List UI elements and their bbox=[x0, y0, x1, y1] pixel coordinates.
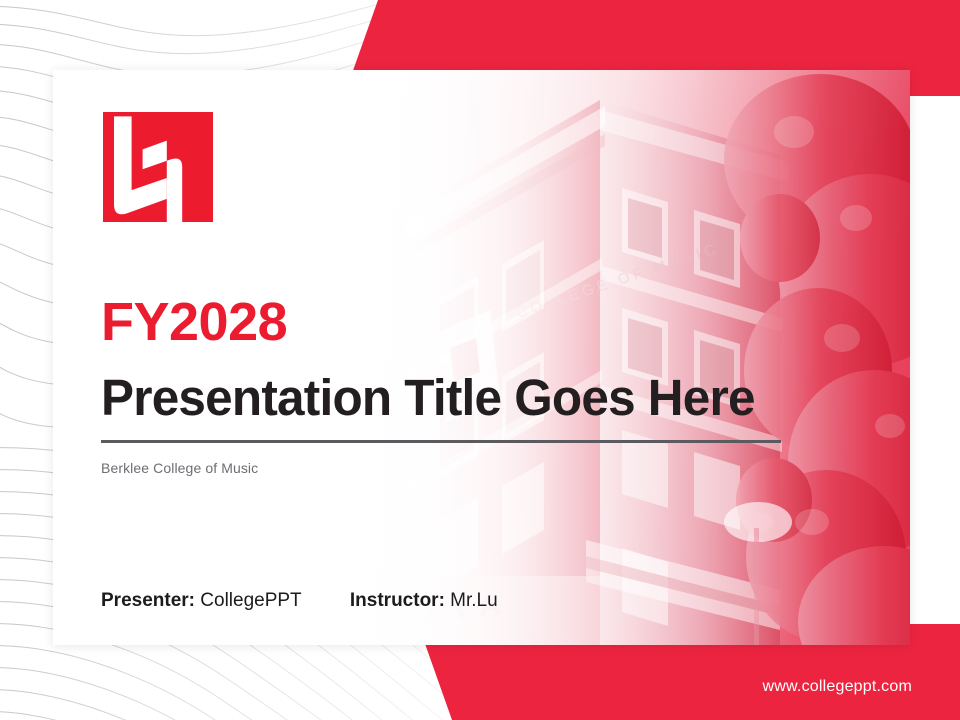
berklee-logo-icon bbox=[103, 112, 213, 222]
site-url[interactable]: www.collegeppt.com bbox=[763, 678, 912, 696]
presenter-name: CollegePPT bbox=[200, 590, 301, 611]
slide-content: FY2028 Presentation Title Goes Here Berk… bbox=[53, 70, 910, 645]
institution-subtitle: Berklee College of Music bbox=[101, 460, 258, 476]
instructor-label: Instructor: bbox=[350, 590, 445, 611]
slide-card: Berklee bbox=[53, 70, 910, 645]
instructor-name: Mr.Lu bbox=[450, 590, 498, 611]
presenter-label: Presenter: bbox=[101, 590, 195, 611]
title-divider bbox=[101, 440, 781, 443]
fiscal-year-heading: FY2028 bbox=[101, 295, 287, 349]
credits-line: Presenter: CollegePPT Instructor: Mr.Lu bbox=[101, 590, 498, 612]
presentation-slide: Berklee bbox=[0, 0, 960, 720]
page-title: Presentation Title Goes Here bbox=[101, 372, 755, 423]
